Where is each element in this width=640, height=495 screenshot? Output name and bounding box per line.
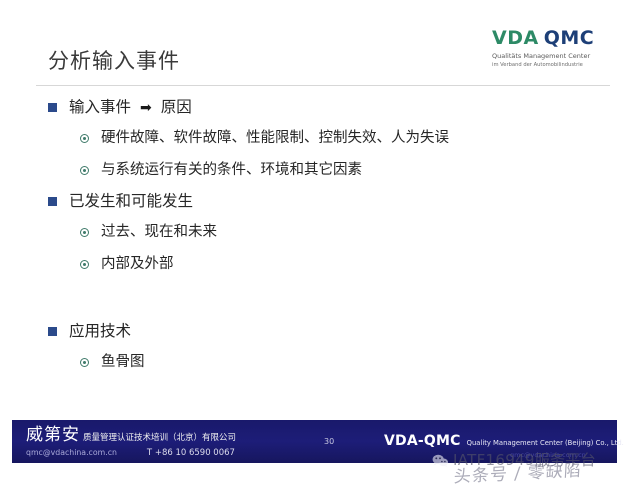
bullet-level1-label: 应用技术 (69, 320, 131, 342)
footer-brand-cn: 威第安 (26, 425, 80, 445)
bullet-level1: 应用技术 (48, 320, 640, 350)
slide-header: 分析输入事件 VDAQMC Qualitäts Management Cente… (0, 0, 640, 90)
block-spacer (0, 284, 640, 320)
bullet-level2: 内部及外部 (80, 252, 640, 284)
footer-email-secondary: qmc@vdachina.com.cn (510, 451, 586, 460)
bullet-heading-text: 输入事件 (69, 98, 131, 116)
bullet-level2: 过去、现在和未来 (80, 220, 640, 252)
bullet-level1-label: 输入事件➡原因 (69, 96, 192, 119)
footer-brand-en-sub: Quality Management Center (Beijing) Co.,… (467, 438, 624, 448)
logo-wordmark: VDAQMC (492, 28, 612, 48)
bullet-level1-label: 已发生和可能发生 (69, 190, 193, 212)
slide-page-number: 30 (324, 437, 334, 447)
circle-dot-bullet-icon (80, 358, 89, 367)
slide-body: 输入事件➡原因 硬件故障、软件故障、性能限制、控制失效、人为失误 与系统运行有关… (0, 96, 640, 408)
bullet-level2: 与系统运行有关的条件、环境和其它因素 (80, 158, 640, 190)
bullet-level2-label: 鱼骨图 (101, 350, 145, 374)
circle-dot-bullet-icon (80, 134, 89, 143)
logo-tagline-line1: Qualitäts Management Center (492, 52, 612, 61)
footer-right-block: VDA-QMC Quality Management Center (Beiji… (384, 433, 624, 449)
right-arrow-icon: ➡ (140, 97, 152, 119)
circle-dot-bullet-icon (80, 166, 89, 175)
square-bullet-icon (48, 197, 57, 206)
footer-brand-en: VDA-QMC (384, 433, 461, 449)
logo-vda-text: VDA (492, 27, 539, 49)
logo-qmc-text: QMC (544, 27, 595, 49)
footer-phone: T +86 10 6590 0067 (147, 448, 235, 459)
watermark-line2: 头条号 / 零缺陷 (453, 462, 582, 488)
bullet-level2-label: 硬件故障、软件故障、性能限制、控制失效、人为失误 (101, 126, 449, 150)
bullet-heading-suffix: 原因 (161, 98, 192, 116)
presentation-slide: 分析输入事件 VDAQMC Qualitäts Management Cente… (0, 0, 640, 495)
bullet-level1: 已发生和可能发生 (48, 190, 640, 220)
footer-brand-line: 威第安 质量管理认证技术培训（北京）有限公司 (26, 425, 236, 445)
logo-tagline-line2: im Verband der Automobilindustrie (492, 61, 612, 69)
bullet-level2-label: 过去、现在和未来 (101, 220, 217, 244)
page-title: 分析输入事件 (48, 48, 180, 74)
footer-left-block: 威第安 质量管理认证技术培训（北京）有限公司 qmc@vdachina.com.… (26, 425, 236, 459)
footer-brand-cn-sub: 质量管理认证技术培训（北京）有限公司 (83, 432, 236, 444)
square-bullet-icon (48, 327, 57, 336)
square-bullet-icon (48, 103, 57, 112)
bullet-level2-label: 内部及外部 (101, 252, 174, 276)
bullet-level2: 鱼骨图 (80, 350, 640, 382)
footer-email: qmc@vdachina.com.cn (26, 447, 117, 458)
bullet-level1: 输入事件➡原因 (48, 96, 640, 126)
bullet-level2-label: 与系统运行有关的条件、环境和其它因素 (101, 158, 362, 182)
footer-contact-line: qmc@vdachina.com.cn T +86 10 6590 0067 (26, 447, 236, 459)
vda-qmc-logo: VDAQMC Qualitäts Management Center im Ve… (492, 28, 612, 69)
circle-dot-bullet-icon (80, 260, 89, 269)
slide-footer: 威第安 质量管理认证技术培训（北京）有限公司 qmc@vdachina.com.… (12, 420, 617, 463)
circle-dot-bullet-icon (80, 228, 89, 237)
bullet-level2: 硬件故障、软件故障、性能限制、控制失效、人为失误 (80, 126, 640, 158)
title-divider (36, 85, 610, 86)
